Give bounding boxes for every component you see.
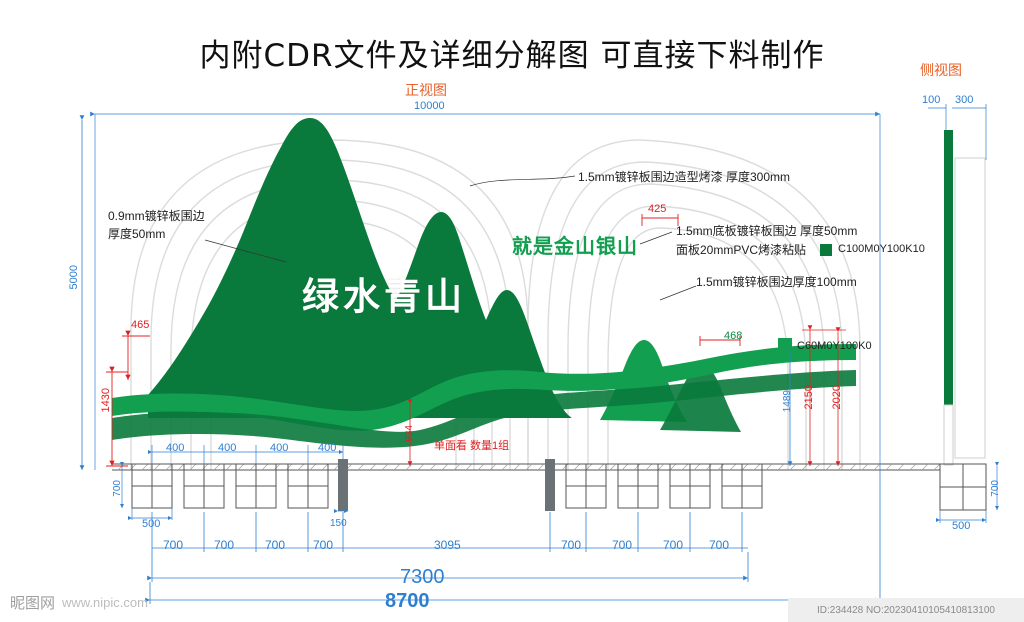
dim-overall-top: 10000: [414, 100, 445, 112]
watermark-logo: 昵图网: [10, 592, 55, 613]
dim-400-2: 400: [218, 442, 236, 454]
dim-8700: 8700: [385, 590, 430, 613]
callout-pvc-panel: 面板20mmPVC烤漆粘贴: [676, 241, 806, 258]
diagram-canvas: 内附CDR文件及详细分解图 可直接下料制作 正视图 侧视图: [0, 0, 1024, 622]
dim-934: 934: [404, 425, 415, 442]
dim-side-300: 300: [955, 94, 973, 106]
artwork-main-text: 绿水青山: [302, 266, 466, 320]
callout-color-c60: C60M0Y100K0: [797, 340, 872, 352]
dim-700-b2: 700: [214, 538, 234, 552]
dim-700-b7: 700: [663, 538, 683, 552]
dim-side-100: 100: [922, 94, 940, 106]
dim-7300: 7300: [400, 566, 445, 589]
callout-1.5mm-edge-100: 1.5mm镀锌板围边厚度100mm: [696, 273, 857, 290]
dim-700-b6: 700: [612, 538, 632, 552]
dim-425: 425: [648, 203, 666, 215]
callout-0.9mm-edge: 0.9mm镀锌板围边: [108, 207, 205, 224]
dim-1430: 1430: [100, 388, 112, 412]
dim-465: 465: [131, 319, 149, 331]
callout-1.5mm-base-50: 1.5mm底板镀锌板围边 厚度50mm: [676, 222, 857, 239]
watermark-id: ID:234428 NO:20230410105410813100: [788, 598, 1024, 622]
artwork-secondary-text: 就是金山银山: [512, 230, 638, 259]
dim-150: 150: [330, 518, 347, 529]
dim-400-1: 400: [166, 442, 184, 454]
dim-700-vertical: 700: [112, 480, 123, 497]
watermark-site: www.nipic.com: [62, 595, 148, 610]
dim-500-left: 500: [142, 518, 160, 530]
dim-400-3: 400: [270, 442, 288, 454]
dim-700-b5: 700: [561, 538, 581, 552]
dim-700-b8: 700: [709, 538, 729, 552]
dim-side-700: 700: [990, 480, 1001, 497]
dim-400-4: 400: [318, 442, 336, 454]
dim-700-b4: 700: [313, 538, 333, 552]
callout-1.5mm-edge-300: 1.5mm镀锌板围边造型烤漆 厚度300mm: [578, 168, 790, 185]
callout-color-c100: C100M0Y100K10: [838, 243, 925, 255]
dim-700-b1: 700: [163, 538, 183, 552]
callout-single-side-qty: 单面看 数量1组: [434, 437, 509, 453]
dim-2020: 2020: [831, 385, 843, 409]
dim-468: 468: [724, 330, 742, 342]
dim-height-left: 5000: [68, 265, 80, 289]
color-swatch-c60: [778, 338, 792, 350]
dim-side-500: 500: [952, 520, 970, 532]
dim-2150: 2150: [803, 385, 815, 409]
dim-700-b3: 700: [265, 538, 285, 552]
color-swatch-c100: [820, 244, 832, 256]
dim-1489: 1489: [782, 390, 793, 412]
dim-3095: 3095: [434, 538, 461, 552]
callout-thickness-50: 厚度50mm: [108, 225, 165, 242]
